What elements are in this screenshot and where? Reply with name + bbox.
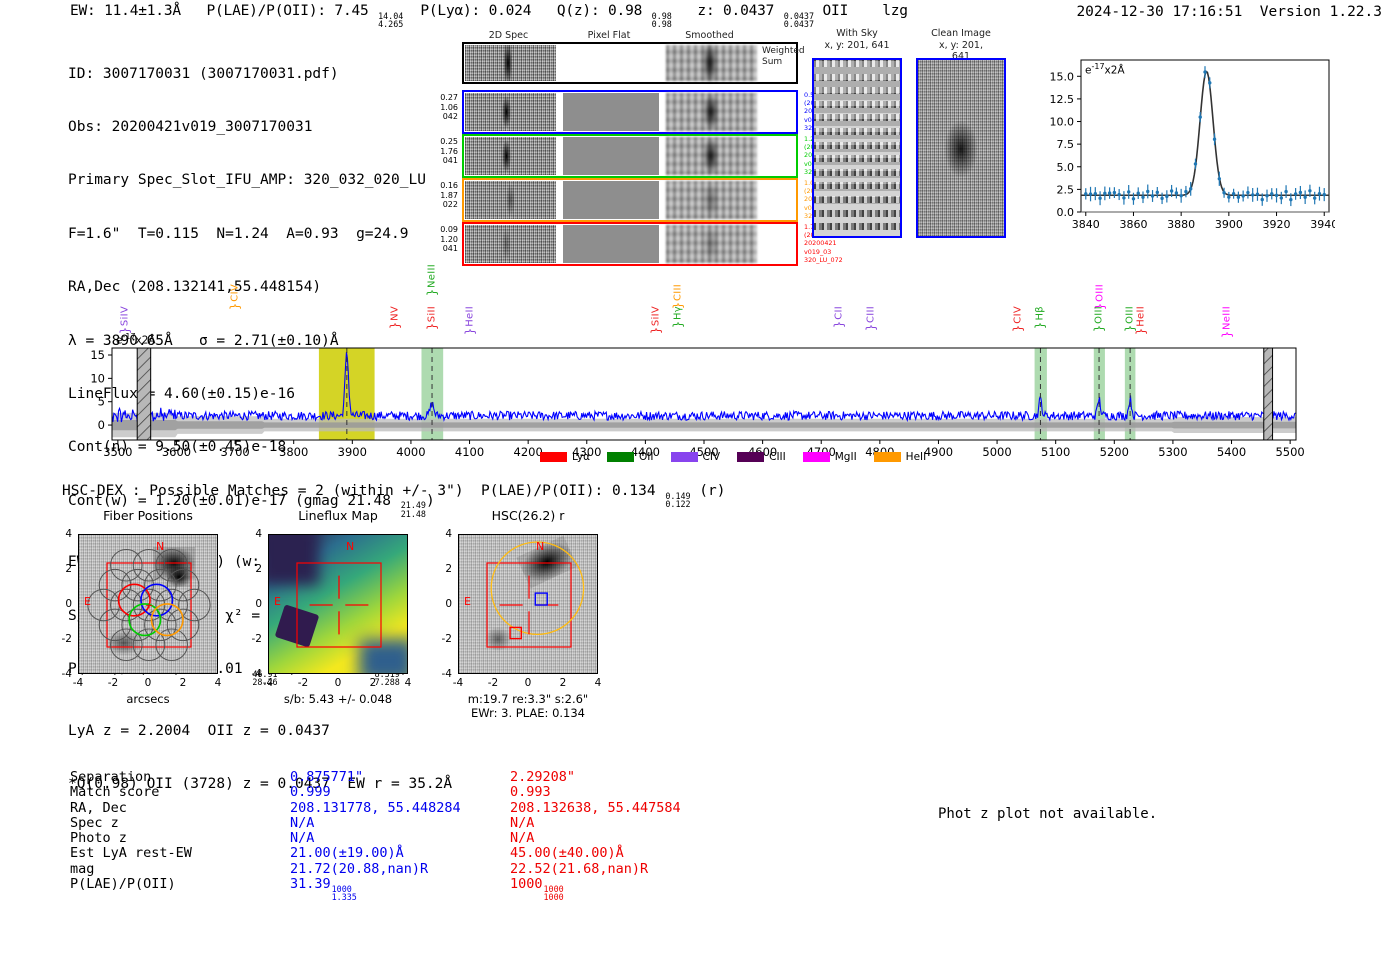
weighted-sum-label: Weighted Sum [762,46,805,68]
match-label-5: Est LyA rest-EW [70,846,290,861]
fiber-streak-sm-1 [704,138,718,174]
match-row-match-score: Match score0.9990.993 [70,785,681,800]
cutout-panels: With Skyx, y: 201, 641Clean Imagex, y: 2… [812,28,1024,254]
spec2d-column-title-1: Pixel Flat [588,30,631,41]
compass-e-0: E [84,595,91,608]
match-label-4: Photo z [70,831,290,846]
weighted-sum-row [462,42,798,84]
legend-swatch-heii [874,452,901,462]
imaging-xtick-0-2: 0 [145,677,152,689]
emission-line-tag-oiii-14: OIII{ [1094,306,1105,333]
imaging-panels: Fiber Positions+NE-4-2024420-2-4arcsecsL… [60,512,680,727]
svg-text:0: 0 [98,418,105,432]
emission-line-brace-12: { [1036,320,1045,331]
fiber-streak-2 [506,184,515,216]
match-red-0: 2.29208" [510,770,681,785]
svg-text:3840: 3840 [1072,218,1100,231]
svg-text:3800: 3800 [279,445,308,459]
fiber-left-labels-2: 0.161.87022 [426,181,458,210]
imaging-sub-2-0: m:19.7 re:3.3" s:2.6" [468,692,588,706]
emission-line-label-5: HeII [464,306,475,327]
legend-swatch-ciii [737,452,764,462]
imaging-xtick-2-3: 2 [560,677,567,689]
match-blue-range-7: 10001.335 [332,885,357,902]
svg-text:15.0: 15.0 [1050,70,1075,83]
emission-line-brace-14: { [1095,323,1104,334]
fiber-row-1 [462,134,798,178]
imaging-image-0: + [78,534,218,674]
svg-text:0.0: 0.0 [1057,206,1075,219]
emission-line-label-14: OIII [1094,306,1105,324]
emission-line-tag-cii-9: CII{ [833,306,844,329]
match-blue-7: 31.3910001.335 [290,877,510,902]
svg-text:5300: 5300 [1158,445,1187,459]
imaging-xlabel-1: s/b: 5.43 +/- 0.048 [284,692,392,706]
svg-text:5.0: 5.0 [1057,161,1075,174]
emission-line-tag-heii-5: HeII{ [464,306,475,336]
weighted-sum-streak [504,45,512,81]
imaging-xtick-0-4: 4 [215,677,222,689]
fiber-pixelflat-2 [563,181,659,219]
emission-line-label-2: NV [389,306,400,321]
info-id: ID: 3007170031 (3007170031.pdf) [68,66,452,84]
match-row-p-lae-p-oii-: P(LAE)/P(OII)31.3910001.335100010001000 [70,877,681,902]
emission-line-brace-6: { [651,325,660,336]
match-row-spec-z: Spec zN/AN/A [70,816,681,831]
emission-line-tag-nv-2: NV{ [389,306,400,330]
imaging-overlay-0: + [79,535,218,674]
svg-text:4000: 4000 [396,445,425,459]
match-blue-6: 21.72(20.88,nan)R [290,862,510,877]
legend-item-lyα: Lyα [540,451,590,463]
emission-line-label-10: CIII [866,306,877,323]
plae-range-1: 14.044.265 [378,12,403,29]
emission-line-label-12: Hβ [1035,306,1046,321]
emission-line-tag-neiii-4: NeIII{ [427,264,438,297]
masked-band-1 [1264,348,1273,440]
cutout-title-0: With Sky [836,28,877,39]
legend-item-oii: OII [607,451,653,463]
svg-text:10: 10 [90,371,105,385]
fiber-left-labels-1: 0.251.76041 [426,137,458,166]
svg-text:12.5: 12.5 [1050,93,1075,106]
imaging-ytick-1-0: 4 [255,528,262,540]
fiber-row-3 [462,222,798,266]
svg-text:4200: 4200 [514,445,543,459]
match-blue-5: 21.00(±19.00)Å [290,846,510,861]
imaging-ytick-0-3: -2 [62,633,72,645]
emission-line-brace-9: { [834,319,843,330]
imaging-image-1 [268,534,408,674]
imaging-xtick-2-0: -4 [453,677,463,689]
match-red-range-7: 10001000 [544,885,564,902]
legend-swatch-oii [607,452,634,462]
info-seeing: F=1.6" T=0.115 N=1.24 A=0.93 g=24.9 [68,226,452,244]
svg-text:3600: 3600 [162,445,191,459]
imaging-xtick-0-1: -2 [108,677,118,689]
cutout-image-0 [812,58,902,238]
emission-line-brace-2: { [390,320,399,331]
emission-line-label-7: CIII [673,284,684,301]
spec2d-column-title-0: 2D Spec [489,30,529,41]
svg-text:5: 5 [98,395,105,409]
line-profile-units: e-17x2Å [1085,62,1125,77]
emission-line-label-15: OIII [1125,306,1136,324]
summary-line: EW: 11.4±1.3Å P(LAE)/P(OII): 7.45 14.044… [70,3,908,29]
legend-label-ciii: CIII [769,451,786,463]
match-red-6: 22.52(21.68,nan)R [510,862,681,877]
imaging-xtick-1-0: -4 [263,677,273,689]
svg-text:2.5: 2.5 [1057,183,1075,196]
imaging-title-1: Lineflux Map [298,508,378,523]
imaging-ytick-1-3: -2 [252,633,262,645]
svg-text:5100: 5100 [1041,445,1070,459]
compass-e-2: E [464,595,471,608]
svg-text:3900: 3900 [1215,218,1243,231]
match-red-2: 208.132638, 55.447584 [510,801,681,816]
match-blue-3: N/A [290,816,510,831]
match-row-mag: mag21.72(20.88,nan)R22.52(21.68,nan)R [70,862,681,877]
svg-text:3920: 3920 [1263,218,1291,231]
emission-line-brace-10: { [867,322,876,333]
fiber-pixelflat-0 [563,93,659,131]
svg-text:3880: 3880 [1167,218,1195,231]
match-table: Separation0.875771"2.29208"Match score0.… [70,770,681,902]
svg-text:5400: 5400 [1217,445,1246,459]
emission-line-brace-11: { [1013,323,1022,334]
summary-suffix: OII lzg [814,3,908,19]
compass-n-1: N [346,540,354,553]
imaging-xtick-2-2: 0 [525,677,532,689]
match-label-2: RA, Dec [70,801,290,816]
full-spectrum-svg: 3500360037003800390040004100420043004400… [82,278,1302,468]
svg-text:7.5: 7.5 [1057,138,1075,151]
emission-line-brace-0: { [121,325,130,336]
imaging-ytick-0-1: 2 [65,563,72,575]
svg-text:4100: 4100 [455,445,484,459]
emission-line-label-8: Hγ [673,306,684,320]
emission-line-tag-siiv-6: SiIV{ [650,306,661,335]
emission-line-tag-siii-3: SiII{ [427,306,438,331]
legend-label-civ: CIV [703,451,721,463]
match-label-6: mag [70,862,290,877]
svg-text:15: 15 [90,348,105,362]
legend-swatch-lyα [540,452,567,462]
line-profile-svg: 3840386038803900392039400.02.55.07.510.0… [1035,52,1335,242]
compass-n-2: N [536,540,544,553]
imaging-title-0: Fiber Positions [103,508,193,523]
legend-item-mgii: MgII [803,451,857,463]
summary-prefix: EW: 11.4±1.3Å P(LAE)/P(OII): 7.45 [70,3,377,19]
imaging-xtick-1-3: 2 [370,677,377,689]
fiber-row-2 [462,178,798,222]
svg-text:5500: 5500 [1275,445,1304,459]
emission-line-tag-civ-11: CIV{ [1012,306,1023,333]
emission-line-label-1: CIV [230,284,241,302]
emission-line-tag-siiv-0: SiIV{ [120,306,131,335]
full-spectrum-plot: 3500360037003800390040004100420043004400… [82,278,1302,468]
svg-text:5200: 5200 [1100,445,1129,459]
imaging-xtick-0-3: 2 [180,677,187,689]
timestamp-version: 2024-12-30 17:16:51 Version 1.22.3 [1076,4,1382,20]
emission-line-label-6: SiIV [650,306,661,326]
imaging-xlabel-0: arcsecs [126,692,169,706]
weighted-sum-streak-smoothed [704,45,716,81]
legend-label-mgii: MgII [835,451,857,463]
emission-line-label-11: CIV [1012,306,1023,324]
emission-line-brace-17: { [1222,329,1231,340]
cutout-title-1: Clean Image [931,28,991,39]
match-row-separation: Separation0.875771"2.29208" [70,770,681,785]
spectrum-legend: LyαOIICIVCIIIMgIIHeII [540,451,926,463]
svg-text:10.0: 10.0 [1050,116,1075,129]
masked-band-0 [137,348,150,440]
emission-line-tag-civ-1: CIV{ [230,284,241,311]
svg-text:3900: 3900 [338,445,367,459]
photz-note: Phot z plot not available. [938,806,1157,822]
legend-label-lyα: Lyα [572,451,590,463]
legend-swatch-civ [671,452,698,462]
weighted-sum-pixelflat [563,45,659,81]
qz-range: 0.980.98 [652,12,672,29]
svg-text:3940: 3940 [1310,218,1335,231]
imaging-xtick-1-2: 0 [335,677,342,689]
emission-line-tag-heii-16: HeII{ [1135,306,1146,336]
emission-line-label-4: NeIII [427,264,438,288]
match-blue-1: 0.999 [290,785,510,800]
svg-text:4900: 4900 [924,445,953,459]
imaging-ytick-2-0: 4 [445,528,452,540]
hscdex-summary: HSC-DEX : Possible Matches = 2 (within +… [62,483,726,509]
emission-line-label-9: CII [833,306,844,320]
imaging-ytick-2-4: -4 [442,668,452,680]
fiber-row-0 [462,90,798,134]
fiber-streak-0 [502,96,511,128]
emission-line-brace-4: { [428,287,437,298]
emission-line-brace-1: { [231,301,240,312]
svg-text:3860: 3860 [1119,218,1147,231]
fiber-streak-3 [502,228,511,260]
fiber-streak-sm-0 [704,94,718,130]
emission-line-label-13: OIII [1094,284,1105,302]
line-profile-plot: 3840386038803900392039400.02.55.07.510.0… [1035,52,1335,242]
emission-line-tag-ciii-10: CIII{ [866,306,877,332]
legend-swatch-mgii [803,452,830,462]
spectrum-trace [112,352,1296,423]
imaging-ytick-1-2: 0 [255,598,262,610]
legend-label-oii: OII [639,451,653,463]
fiber-pixelflat-3 [563,225,659,263]
imaging-overlay-1 [269,535,408,674]
imaging-overlay-2 [459,535,598,674]
summary-mid2: z: 0.0437 [672,3,783,19]
imaging-sub-2-1: EWr: 3. PLAE: 0.134 [471,706,585,720]
imaging-ytick-2-2: 0 [445,598,452,610]
match-red-7: 100010001000 [510,877,681,902]
emission-line-tag-neiii-17: NeIII{ [1221,306,1232,339]
imaging-xtick-1-4: 4 [405,677,412,689]
emission-line-brace-3: { [428,321,437,332]
imaging-xtick-2-4: 4 [595,677,602,689]
fiber-streak-sm-3 [704,226,718,262]
match-blue-0: 0.875771" [290,770,510,785]
fiber-pixelflat-1 [563,137,659,175]
emission-line-label-17: NeIII [1221,306,1232,330]
match-row-est-lya-rest-ew: Est LyA rest-EW21.00(±19.00)Å45.00(±40.0… [70,846,681,861]
match-label-1: Match score [70,785,290,800]
info-primary-amp: Primary Spec_Slot_IFU_AMP: 320_032_020_L… [68,172,452,190]
emission-line-label-16: HeII [1135,306,1146,327]
svg-text:+: + [146,599,153,612]
imaging-ytick-1-4: -4 [252,668,262,680]
match-label-7: P(LAE)/P(OII) [70,877,290,902]
fiber-left-labels-3: 0.091.20041 [426,225,458,254]
hscdex-range: 0.1490.122 [665,492,690,509]
match-row-ra-dec: RA, Dec208.131778, 55.448284208.132638, … [70,801,681,816]
match-red-5: 45.00(±40.00)Å [510,846,681,861]
z-range: 0.04370.0437 [784,12,814,29]
cutout-coords-0: x, y: 201, 641 [824,40,889,51]
compass-e-1: E [274,595,281,608]
match-label-3: Spec z [70,816,290,831]
match-red-3: N/A [510,816,681,831]
emission-line-label-0: SiIV [120,306,131,326]
imaging-ytick-0-0: 4 [65,528,72,540]
emission-line-brace-8: { [674,319,683,330]
compass-n-0: N [156,540,164,553]
emission-line-tag-hβ-12: Hβ{ [1035,306,1046,330]
svg-text:5000: 5000 [982,445,1011,459]
imaging-ytick-0-2: 0 [65,598,72,610]
emission-line-brace-5: { [465,326,474,337]
sky-banding [814,60,900,236]
imaging-ytick-1-1: 2 [255,563,262,575]
imaging-image-2 [458,534,598,674]
imaging-ytick-2-1: 2 [445,563,452,575]
fiber-streak-1 [502,140,511,172]
svg-text:3700: 3700 [220,445,249,459]
legend-item-heii: HeII [874,451,927,463]
imaging-title-2: HSC(26.2) r [492,508,565,523]
emission-line-tag-hγ-8: Hγ{ [673,306,684,329]
legend-item-ciii: CIII [737,451,786,463]
clean-source [944,120,978,178]
legend-label-heii: HeII [906,451,927,463]
fiber-streak-sm-2 [704,182,718,218]
fiber-left-labels-0: 0.271.06042 [426,93,458,122]
imaging-ytick-0-4: -4 [62,668,72,680]
match-label-0: Separation [70,770,290,785]
svg-text:3500: 3500 [103,445,132,459]
legend-item-civ: CIV [671,451,721,463]
emission-line-label-3: SiII [427,306,438,322]
emission-line-brace-16: { [1136,326,1145,337]
imaging-ytick-2-3: -2 [442,633,452,645]
spec2d-column-title-2: Smoothed [685,30,734,41]
match-red-1: 0.993 [510,785,681,800]
emission-line-brace-15: { [1126,323,1135,334]
imaging-xtick-2-1: -2 [488,677,498,689]
info-obs: Obs: 20200421v019_3007170031 [68,119,452,137]
match-blue-2: 208.131778, 55.448284 [290,801,510,816]
summary-mid: P(Lyα): 0.024 Q(z): 0.98 [403,3,650,19]
cutout-image-1 [916,58,1006,238]
spec2d-block: 2D SpecPixel FlatSmoothedWeighted Sum0.2… [462,32,802,262]
imaging-xtick-0-0: -4 [73,677,83,689]
imaging-xtick-1-1: -2 [298,677,308,689]
